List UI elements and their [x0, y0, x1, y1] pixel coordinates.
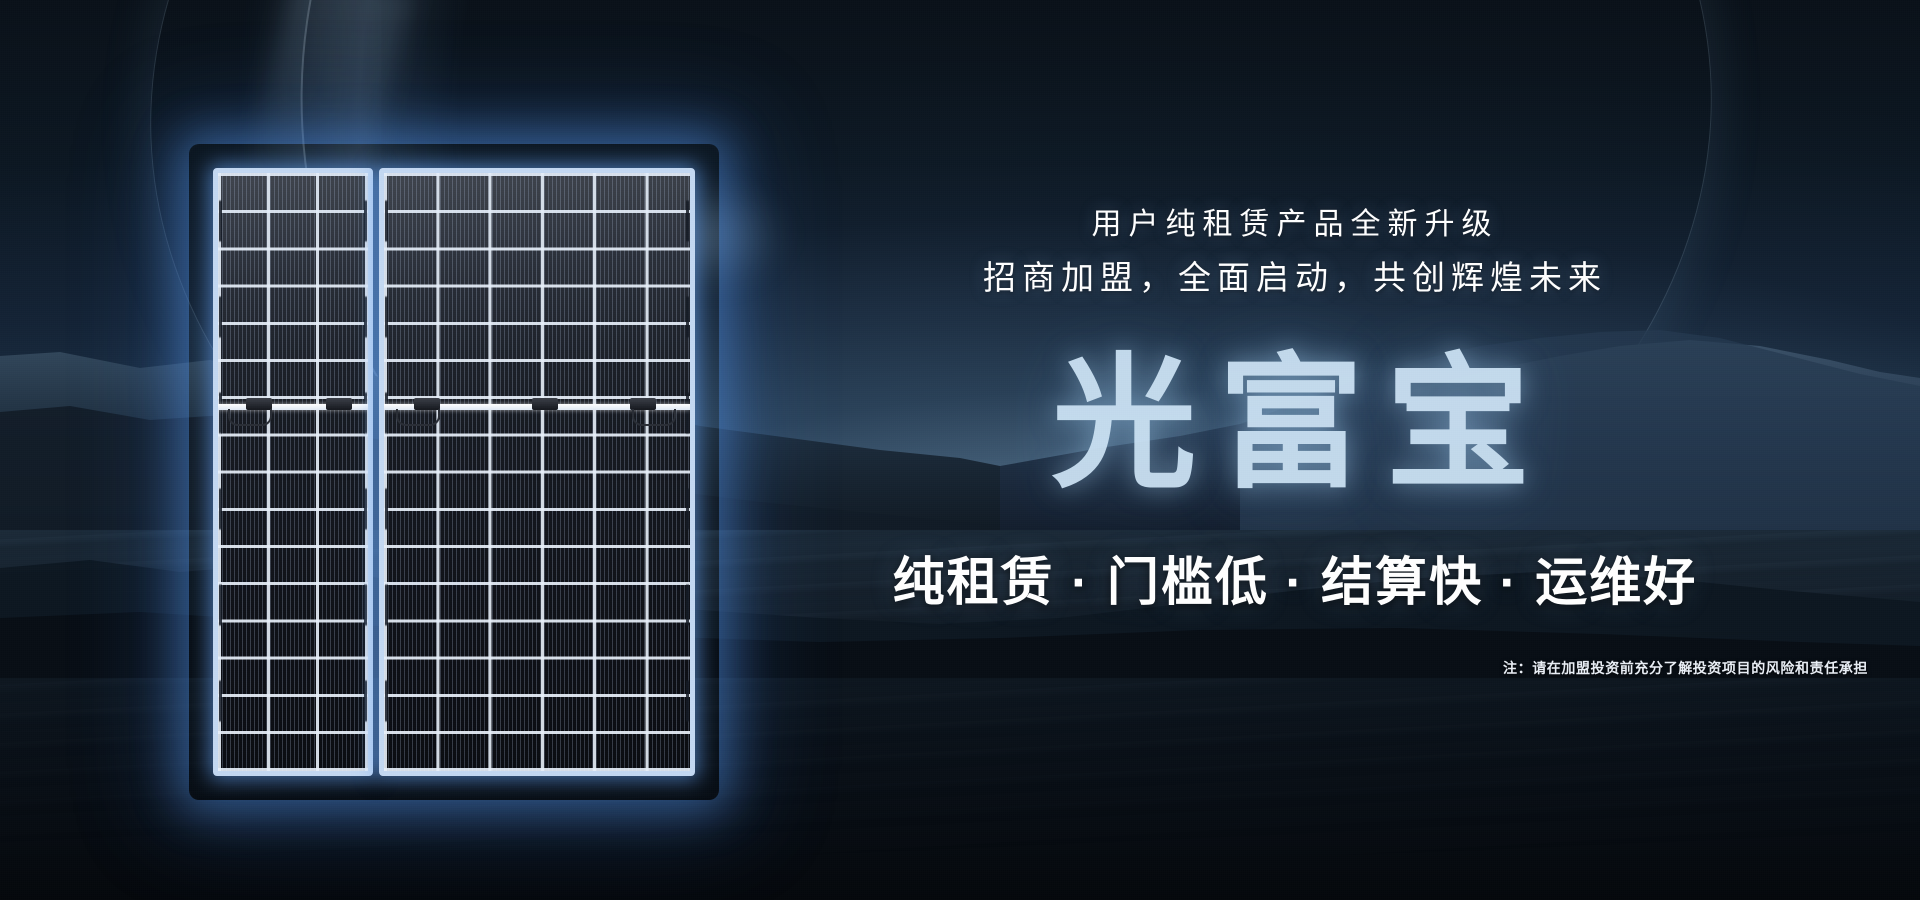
- solar-cell-grid: [218, 173, 368, 771]
- junction-box: [532, 398, 558, 410]
- solar-cell-grid: [384, 173, 690, 771]
- solar-panel-right: [379, 168, 695, 776]
- panel-cable: [228, 409, 272, 426]
- panel-cable: [632, 409, 676, 426]
- solar-panel-left: [213, 168, 373, 776]
- panel-cable: [396, 409, 440, 426]
- solar-panel-group: [213, 168, 695, 776]
- junction-box: [326, 398, 352, 410]
- promotional-banner: 用户纯租赁产品全新升级 招商加盟，全面启动，共创辉煌未来 光富宝 纯租赁 · 门…: [0, 0, 1920, 900]
